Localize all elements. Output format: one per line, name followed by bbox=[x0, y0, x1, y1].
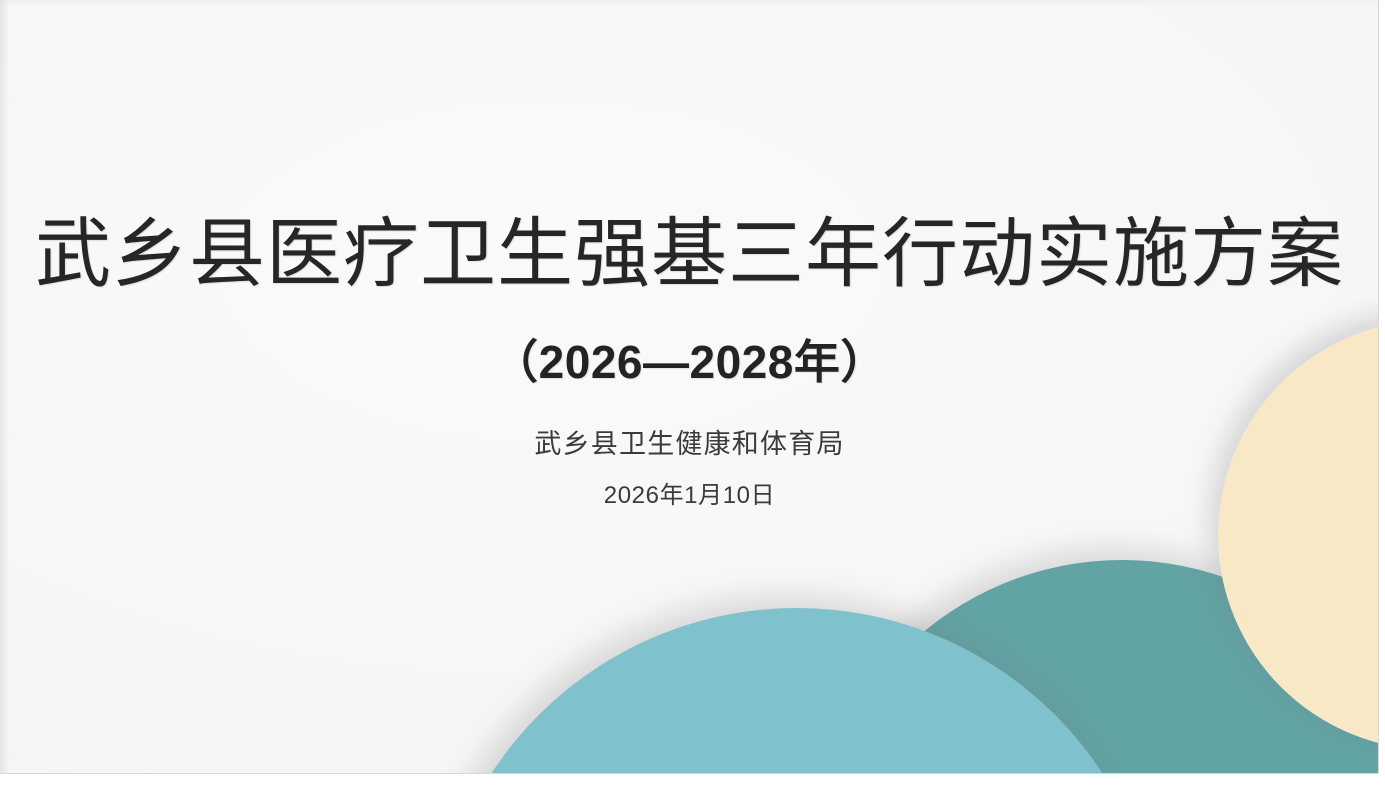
presentation-slide: 武乡县医疗卫生强基三年行动实施方案 （2026—2028年） 武乡县卫生健康和体… bbox=[0, 0, 1385, 785]
slide-subtitle-period: （2026—2028年） bbox=[0, 335, 1379, 390]
teal-dark-circle-shape bbox=[812, 560, 1379, 774]
issuing-organization: 武乡县卫生健康和体育局 bbox=[0, 428, 1379, 462]
slide-title: 武乡县医疗卫生强基三年行动实施方案 bbox=[0, 210, 1379, 298]
teal-light-circle-shape bbox=[432, 608, 1162, 774]
slide-date: 2026年1月10日 bbox=[0, 481, 1379, 511]
slide-canvas: 武乡县医疗卫生强基三年行动实施方案 （2026—2028年） 武乡县卫生健康和体… bbox=[0, 0, 1379, 774]
slide-outer-edge bbox=[0, 775, 1385, 785]
